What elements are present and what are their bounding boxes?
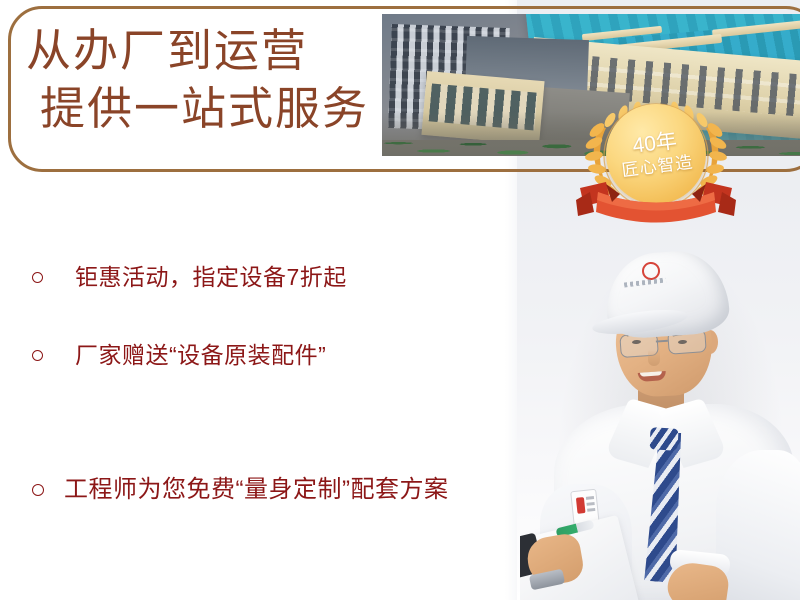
promo-banner: 从办厂到运营 提供一站式服务 <box>0 0 800 600</box>
engineer-with-hardhat-photo <box>520 236 800 600</box>
list-item: 钜惠活动，指定设备7折起 <box>22 262 542 292</box>
headline-line-1: 从办厂到运营 <box>26 22 376 80</box>
hollow-circle-bullet-icon <box>32 484 44 496</box>
page-title: 从办厂到运营 提供一站式服务 <box>26 22 376 138</box>
bullet-text-3: 工程师为您免费“量身定制”配套方案 <box>64 475 448 505</box>
hollow-circle-bullet-icon <box>32 350 43 361</box>
bullet-text-1: 钜惠活动，指定设备7折起 <box>75 262 347 292</box>
engineer-tie-knot <box>649 427 678 450</box>
engineer-nose <box>648 350 660 366</box>
engineer-right-arm <box>716 450 800 600</box>
ribbon-banner-icon <box>576 172 736 226</box>
list-item: 工程师为您免费“量身定制”配套方案 <box>22 475 542 505</box>
list-item: 厂家赠送“设备原装配件” <box>22 340 542 370</box>
anniversary-seal-badge: 40年 匠心智造 <box>576 98 736 226</box>
hollow-circle-bullet-icon <box>32 272 43 283</box>
glasses-bridge <box>656 340 668 342</box>
bullet-text-2: 厂家赠送“设备原装配件” <box>75 340 326 370</box>
offer-bullet-list: 钜惠活动，指定设备7折起 厂家赠送“设备原装配件” 工程师为您免费“量身定制”配… <box>22 262 542 505</box>
headline-line-2: 提供一站式服务 <box>26 80 376 138</box>
